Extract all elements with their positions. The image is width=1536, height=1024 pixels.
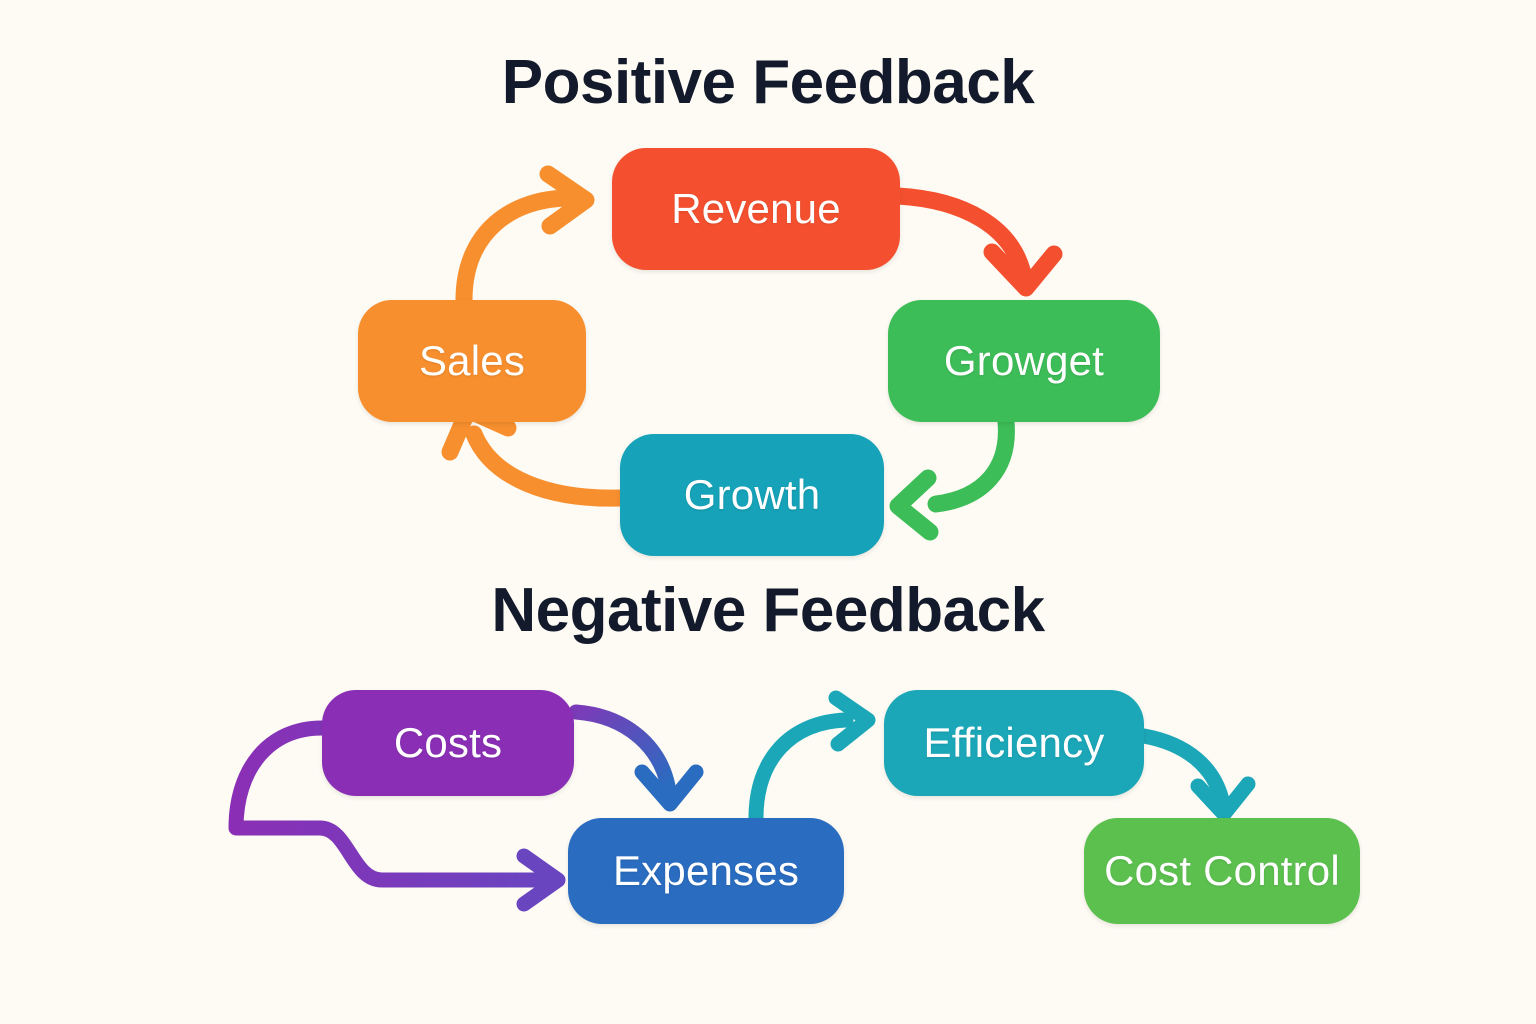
node-revenue[interactable]: Revenue	[612, 148, 900, 270]
edge-growth-to-sales	[450, 410, 620, 498]
edge-expenses-to-efficiency	[756, 698, 868, 818]
node-label-revenue: Revenue	[671, 185, 841, 233]
edge-growget-to-growth	[898, 422, 1006, 532]
node-growth[interactable]: Growth	[620, 434, 884, 556]
node-costs[interactable]: Costs	[322, 690, 574, 796]
node-label-growget: Growget	[944, 337, 1104, 385]
node-label-cost-control: Cost Control	[1104, 847, 1340, 895]
node-label-sales: Sales	[419, 337, 525, 385]
node-growget[interactable]: Growget	[888, 300, 1160, 422]
node-expenses[interactable]: Expenses	[568, 818, 844, 924]
node-cost-control[interactable]: Cost Control	[1084, 818, 1360, 924]
node-label-expenses: Expenses	[613, 847, 799, 895]
node-label-costs: Costs	[394, 719, 502, 767]
diagram-canvas: Positive Feedback Negative Feedback Reve…	[0, 0, 1536, 1024]
edge-sales-to-revenue	[464, 174, 586, 300]
edge-efficiency-to-costcontrol	[1144, 736, 1248, 814]
section-title-positive: Positive Feedback	[0, 52, 1536, 114]
node-sales[interactable]: Sales	[358, 300, 586, 422]
edge-revenue-to-growget	[898, 196, 1054, 288]
node-label-growth: Growth	[684, 471, 821, 519]
node-label-efficiency: Efficiency	[924, 719, 1105, 767]
edge-costs-to-expenses	[576, 712, 696, 804]
section-title-negative: Negative Feedback	[0, 580, 1536, 642]
node-efficiency[interactable]: Efficiency	[884, 690, 1144, 796]
